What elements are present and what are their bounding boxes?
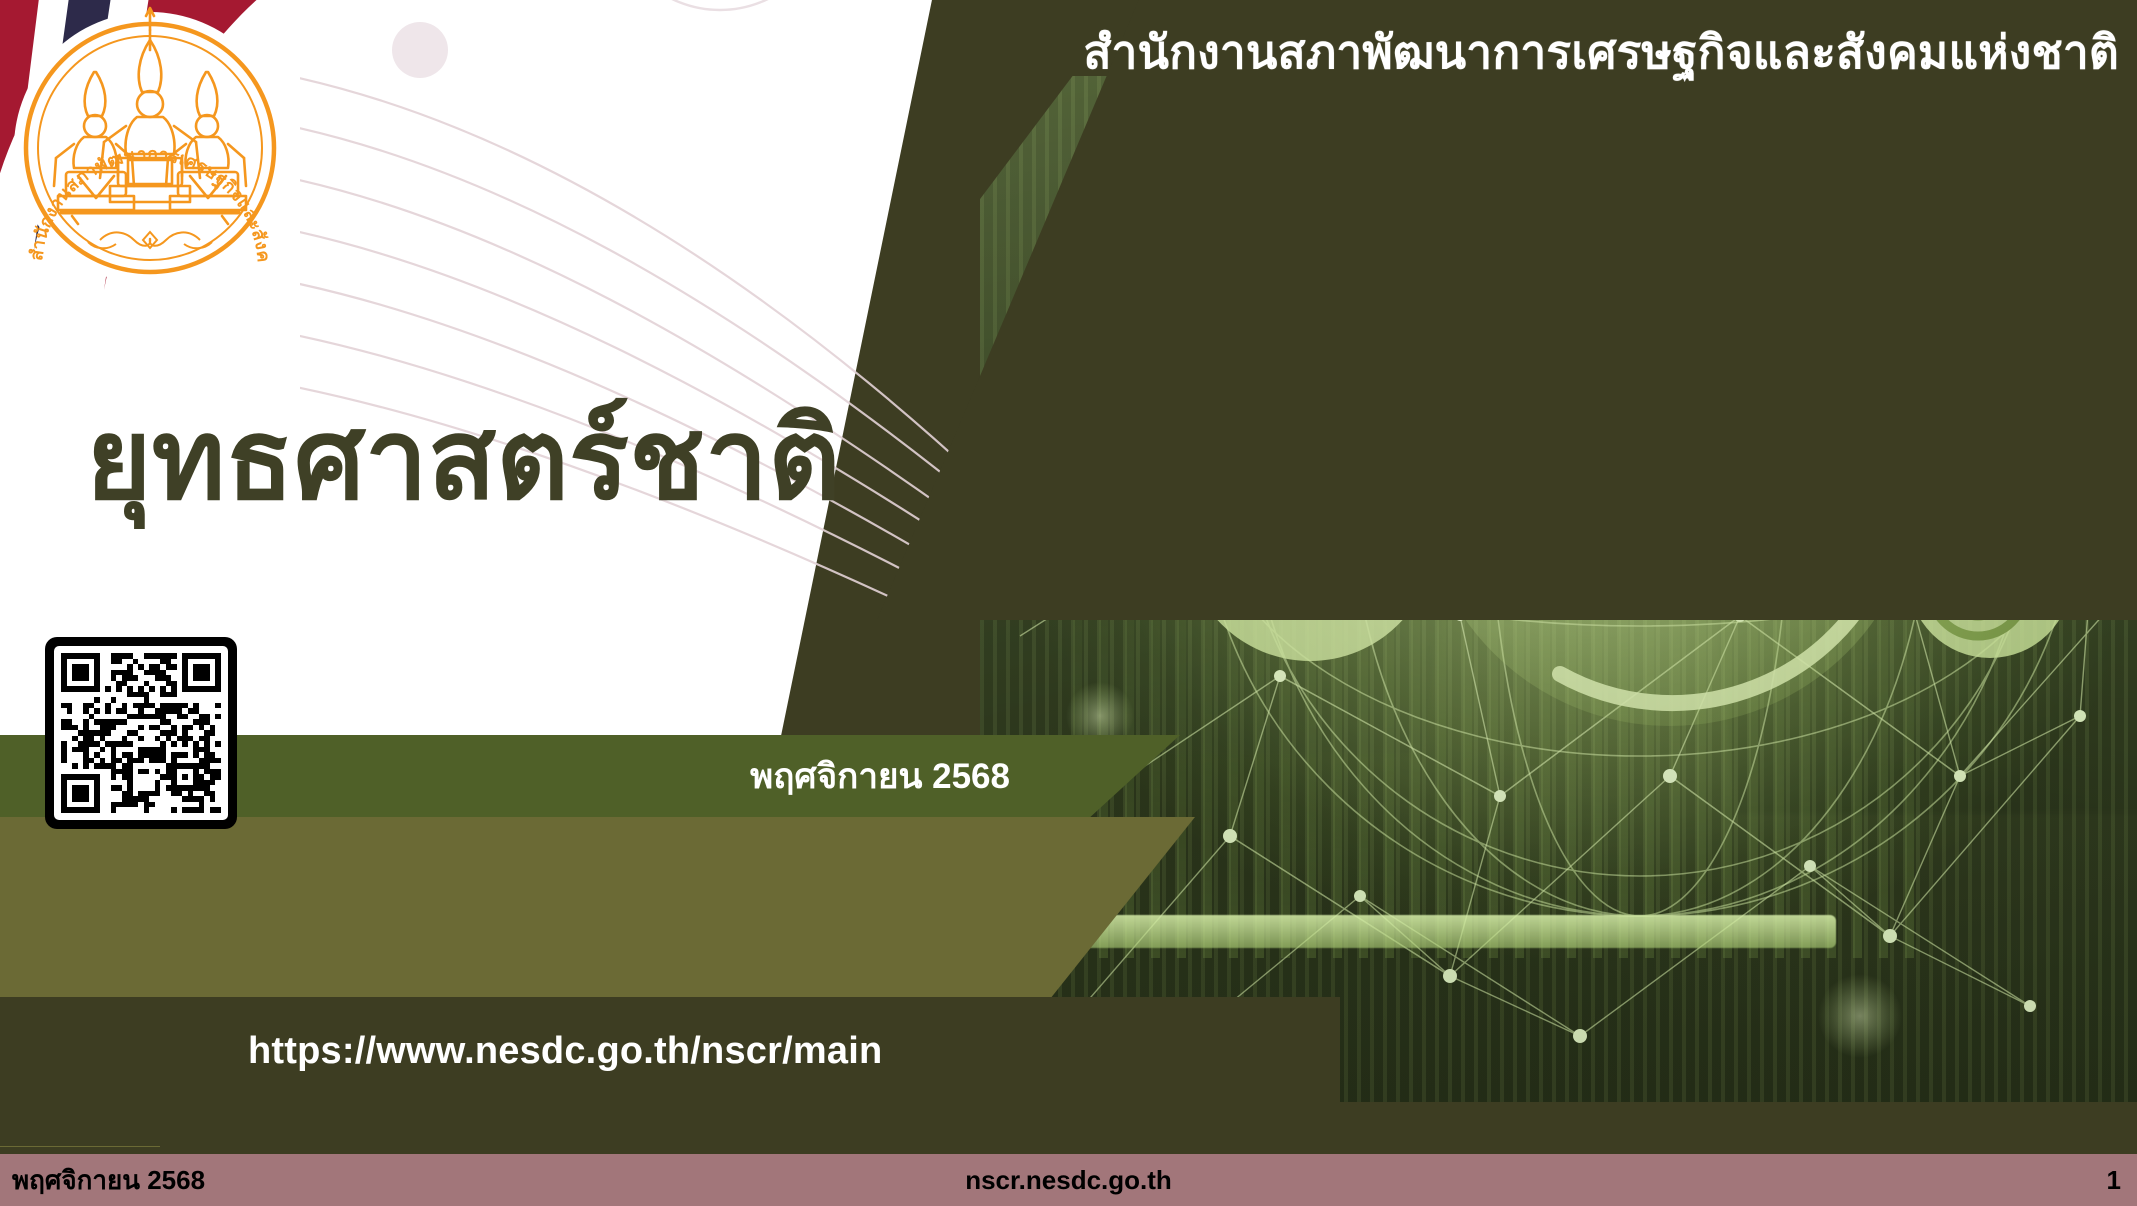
- organization-title: สำนักงานสภาพัฒนาการเศรษฐกิจและสังคมแห่งช…: [1083, 16, 2119, 89]
- page-title: ยุทธศาสตร์ชาติ: [86, 396, 841, 525]
- qr-code-modules: [61, 653, 221, 813]
- qr-code[interactable]: [45, 637, 237, 829]
- decorative-dot: [392, 22, 448, 78]
- website-url[interactable]: https://www.nesdc.go.th/nscr/main: [248, 1030, 882, 1073]
- footer-site: nscr.nesdc.go.th: [0, 1165, 2137, 1196]
- footer-page-number: 1: [2107, 1165, 2121, 1196]
- qr-code-surface: [54, 646, 228, 820]
- slide-root: สำนักงานสภาพัฒนาการเศรษฐกิจและสังคมแห่งช…: [0, 0, 2137, 1206]
- slide-footer: พฤศจิกายน 2568 nscr.nesdc.go.th 1: [0, 1154, 2137, 1206]
- nesdc-emblem: สำนักงานสภาพัฒนาการเศรษฐกิจและสังคมแห่งช…: [0, 0, 300, 300]
- decorative-ring: [610, 0, 830, 10]
- mid-olive-band: [0, 817, 1195, 997]
